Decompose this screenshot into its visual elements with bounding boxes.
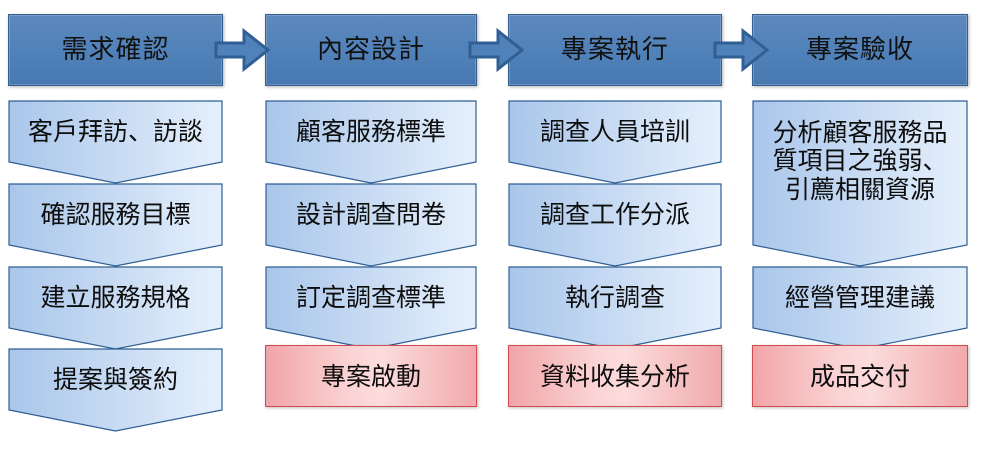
step-c3-3[interactable]: 執行調查 <box>508 266 722 350</box>
step-c2-1[interactable]: 顧客服務標準 <box>265 100 477 184</box>
step-c3-1[interactable]: 調查人員培訓 <box>508 100 722 184</box>
phase-header-2-label: 內容設計 <box>317 37 425 63</box>
step-c4-1-label: 分析顧客服務品 質項目之強弱、 引薦相關資源 <box>772 119 947 204</box>
arrow-right-icon-1 <box>214 28 270 72</box>
step-c2-4-label: 專案啟動 <box>321 363 421 390</box>
phase-header-3-label: 專案執行 <box>561 37 669 63</box>
step-c1-3[interactable]: 建立服務規格 <box>8 266 223 350</box>
step-c2-3[interactable]: 訂定調查標準 <box>265 266 477 350</box>
step-c4-3[interactable]: 成品交付 <box>752 345 968 407</box>
step-c1-4[interactable]: 提案與簽約 <box>8 348 223 432</box>
step-c1-3-label: 建立服務規格 <box>40 284 190 311</box>
step-c1-1[interactable]: 客戶拜訪、訪談 <box>8 100 223 184</box>
step-c1-1-label: 客戶拜訪、訪談 <box>28 118 203 145</box>
step-c3-3-label: 執行調查 <box>565 284 665 311</box>
step-c2-2-label: 設計調查問卷 <box>296 201 446 228</box>
step-c3-2[interactable]: 調查工作分派 <box>508 183 722 267</box>
step-c3-1-label: 調查人員培訓 <box>540 118 690 145</box>
phase-header-1-label: 需求確認 <box>61 37 169 63</box>
phase-header-4[interactable]: 專案驗收 <box>752 14 968 86</box>
arrow-right-icon-2 <box>468 28 524 72</box>
step-c1-2[interactable]: 確認服務目標 <box>8 183 223 267</box>
step-c2-2[interactable]: 設計調查問卷 <box>265 183 477 267</box>
step-c3-2-label: 調查工作分派 <box>540 201 690 228</box>
phase-header-1[interactable]: 需求確認 <box>8 14 223 86</box>
step-c4-1[interactable]: 分析顧客服務品 質項目之強弱、 引薦相關資源 <box>752 100 968 267</box>
step-c3-4[interactable]: 資料收集分析 <box>508 345 722 407</box>
step-c2-4[interactable]: 專案啟動 <box>265 345 477 407</box>
phase-header-3[interactable]: 專案執行 <box>508 14 722 86</box>
step-c1-2-label: 確認服務目標 <box>40 201 190 228</box>
step-c4-3-label: 成品交付 <box>810 363 910 390</box>
step-c3-4-label: 資料收集分析 <box>540 363 690 390</box>
phase-header-4-label: 專案驗收 <box>806 37 914 63</box>
step-c2-3-label: 訂定調查標準 <box>296 284 446 311</box>
step-c4-2[interactable]: 經營管理建議 <box>752 266 968 350</box>
flowchart-canvas: 需求確認 內容設計 專案執行 專案驗收 <box>0 0 983 451</box>
step-c1-4-label: 提案與簽約 <box>53 366 178 393</box>
step-c2-1-label: 顧客服務標準 <box>296 118 446 145</box>
arrow-right-icon-3 <box>713 28 769 72</box>
step-c4-2-label: 經營管理建議 <box>785 284 935 311</box>
phase-header-2[interactable]: 內容設計 <box>265 14 477 86</box>
